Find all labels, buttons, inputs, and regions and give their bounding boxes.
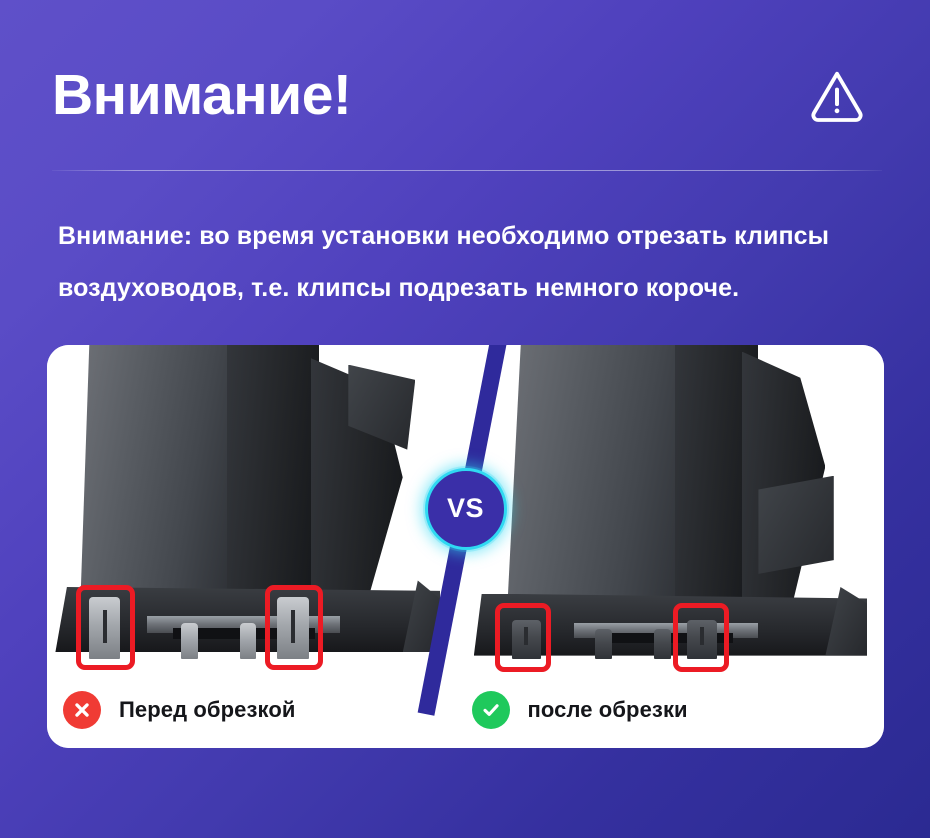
photo-pair: VS — [47, 345, 884, 672]
highlight-box-clip-right — [673, 603, 729, 672]
cross-circle-icon — [63, 691, 101, 729]
caption-before-label: Перед обрезкой — [119, 697, 296, 723]
photo-before — [47, 345, 466, 672]
check-circle-icon — [472, 691, 510, 729]
vs-label: VS — [447, 495, 484, 522]
highlight-box-clip-right — [265, 585, 324, 670]
comparison-card: VS Перед обрезкой п — [47, 345, 884, 748]
poster-header: Внимание! — [52, 52, 888, 138]
warning-triangle-icon — [808, 66, 866, 124]
warning-poster: Внимание! Внимание: во время установки н… — [0, 0, 930, 838]
caption-strip: Перед обрезкой после обрезки — [47, 672, 884, 748]
highlight-box-clip-left — [495, 603, 551, 672]
caption-after: после обрезки — [466, 672, 885, 748]
highlight-box-clip-left — [76, 585, 135, 670]
caption-before: Перед обрезкой — [47, 672, 466, 748]
notice-text: Внимание: во время установки необходимо … — [58, 210, 888, 314]
header-divider — [52, 170, 882, 171]
page-title: Внимание! — [52, 67, 351, 124]
photo-after — [466, 345, 885, 672]
vs-badge: VS — [425, 468, 507, 550]
caption-after-label: после обрезки — [528, 697, 688, 723]
